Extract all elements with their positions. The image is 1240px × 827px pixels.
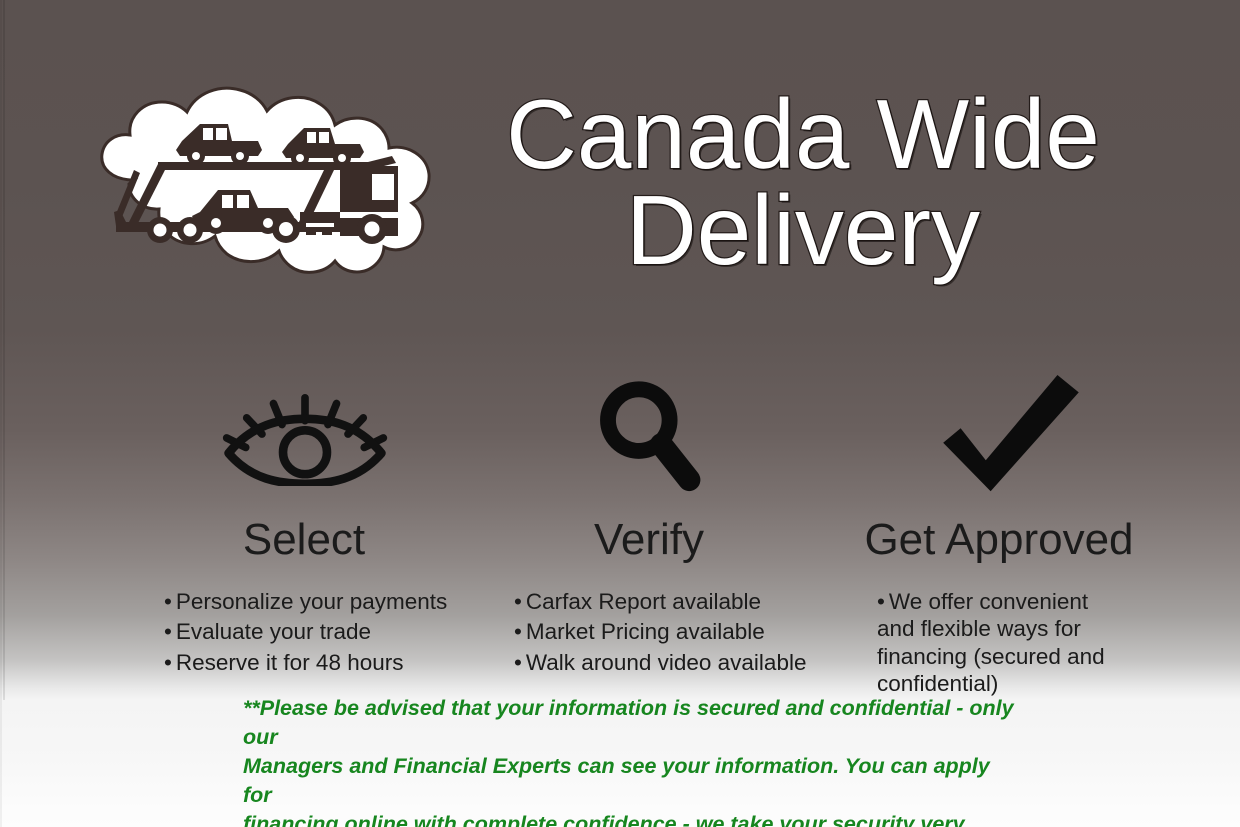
disclaimer-line-1: **Please be advised that your informatio… xyxy=(243,694,1023,752)
bullet-list-select: •Personalize your payments •Evaluate you… xyxy=(164,588,450,676)
left-edge-shadow xyxy=(0,0,2,827)
column-title-select: Select xyxy=(150,518,450,562)
list-item: •Market Pricing available xyxy=(514,618,790,645)
bullet-glyph: • xyxy=(514,650,522,675)
magnifying-glass-icon xyxy=(490,376,790,496)
bullet-glyph: • xyxy=(877,589,885,614)
bullet-text: Walk around video available xyxy=(526,650,807,675)
list-item: •Carfax Report available xyxy=(514,588,790,615)
bullet-list-verify: •Carfax Report available •Market Pricing… xyxy=(514,588,790,676)
bullet-glyph: • xyxy=(514,619,522,644)
security-disclaimer: **Please be advised that your informatio… xyxy=(243,694,1023,827)
bullet-text: Personalize your payments xyxy=(176,589,447,614)
title-line-2: Delivery xyxy=(478,182,1128,278)
bullet-text: Evaluate your trade xyxy=(176,619,371,644)
eye-iris xyxy=(283,430,327,474)
left-edge-hairline xyxy=(3,0,5,700)
bullet-text: We offer convenient and flexible ways fo… xyxy=(877,589,1105,696)
bullet-glyph: • xyxy=(514,589,522,614)
step-column-select: Select •Personalize your payments •Evalu… xyxy=(150,376,450,679)
step-column-verify: Verify •Carfax Report available •Market … xyxy=(490,376,790,679)
canada-wide-delivery-banner: Canada Wide Delivery xyxy=(0,0,1240,827)
magnifier-handle xyxy=(661,444,689,479)
list-item: •Reserve it for 48 hours xyxy=(164,649,450,676)
eye-icon xyxy=(150,376,450,496)
bullet-text: Market Pricing available xyxy=(526,619,765,644)
checkmark-shape xyxy=(943,375,1079,491)
bullet-text: Reserve it for 48 hours xyxy=(176,650,404,675)
list-item: •Walk around video available xyxy=(514,649,790,676)
disclaimer-line-2: Managers and Financial Experts can see y… xyxy=(243,752,1023,810)
logo-upper-deck xyxy=(158,162,368,170)
page-title: Canada Wide Delivery xyxy=(478,86,1128,278)
list-item: •Personalize your payments xyxy=(164,588,450,615)
column-title-get-approved: Get Approved xyxy=(845,518,1145,562)
step-column-get-approved: Get Approved •We offer convenient and fl… xyxy=(845,376,1145,701)
list-item: •Evaluate your trade xyxy=(164,618,450,645)
bullet-glyph: • xyxy=(164,589,172,614)
column-title-verify: Verify xyxy=(490,518,790,562)
bullet-glyph: • xyxy=(164,650,172,675)
bullet-text: Carfax Report available xyxy=(526,589,761,614)
disclaimer-line-3: financing online with complete confidenc… xyxy=(243,810,1023,827)
car-carrier-truck-cloud-logo xyxy=(72,84,472,276)
title-line-1: Canada Wide xyxy=(506,79,1100,189)
checkmark-icon xyxy=(845,376,1145,496)
list-item: •We offer convenient and flexible ways f… xyxy=(877,588,1117,698)
bullet-glyph: • xyxy=(164,619,172,644)
bullet-list-get-approved: •We offer convenient and flexible ways f… xyxy=(877,588,1145,698)
